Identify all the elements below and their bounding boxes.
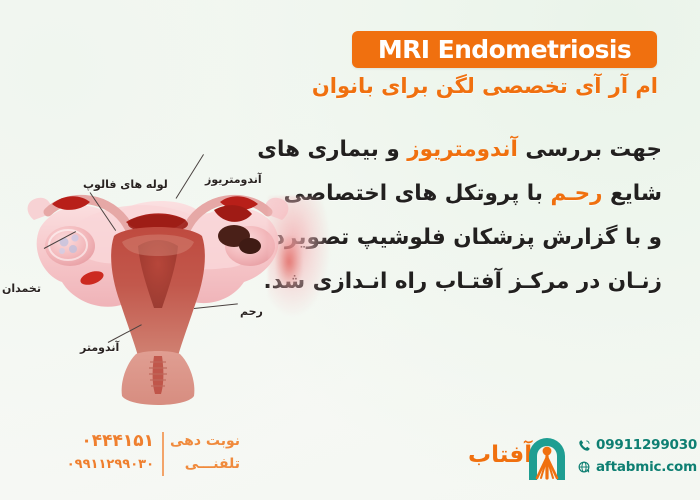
- anatomy-label-uterus: رحم: [240, 305, 263, 318]
- globe-icon: [578, 461, 591, 474]
- booking-block: نوبت دهی تلفنـــی ۰۴۴۴۱۵۱ ۰۹۹۱۱۲۹۹۰۳۰: [34, 430, 240, 482]
- booking-label-line1: نوبت دهی: [170, 430, 240, 453]
- anatomy-label-endometrium: آندومتر: [80, 341, 119, 354]
- anatomy-label-fallopian-tubes: لوله های فالوپ: [83, 178, 168, 191]
- booking-number-primary[interactable]: ۰۴۴۴۱۵۱: [67, 430, 154, 453]
- body-seg: جهت بررسی: [518, 137, 662, 162]
- contact-web-row[interactable]: aftabmic.com: [578, 456, 688, 478]
- body-line-2: شایع رحـم با پروتکل های اختصاصی: [310, 172, 662, 216]
- booking-numbers: ۰۴۴۴۱۵۱ ۰۹۹۱۱۲۹۹۰۳۰: [67, 430, 154, 476]
- anatomy-label-endometriosis: آندومتریوز: [205, 173, 262, 186]
- website-url: aftabmic.com: [596, 459, 697, 475]
- body-line-3: و با گزارش پزشکان فلوشیپ تصویرداری: [310, 216, 662, 260]
- page-title: MRI Endometriosis: [378, 35, 631, 64]
- booking-number-secondary[interactable]: ۰۹۹۱۱۲۹۹۰۳۰: [67, 453, 154, 476]
- body-seg: شایع: [603, 181, 662, 206]
- subtitle: ام آر آی تخصصی لگن برای بانوان: [328, 74, 658, 98]
- brand-block: آفتاب 09911299030: [468, 428, 686, 484]
- body-line-4: زنـان در مرکـز آفتـاب راه انـدازی شد.: [310, 260, 662, 304]
- title-badge: MRI Endometriosis: [352, 31, 657, 68]
- body-seg: با پروتکل های اختصاصی: [284, 181, 551, 206]
- body-line-1: جهت بررسی آندومتریوز و بیماری های: [310, 128, 662, 172]
- anatomy-label-ovary: تخمدان: [2, 282, 41, 295]
- booking-label-line2: تلفنـــی: [170, 453, 240, 476]
- contact-info: 09911299030 aftabmic.com: [578, 434, 688, 478]
- body-seg-highlight: رحـم: [550, 181, 602, 206]
- body-copy: جهت بررسی آندومتریوز و بیماری های شایع ر…: [310, 128, 662, 304]
- mri-gantry-icon: [524, 432, 570, 482]
- contact-phone-row[interactable]: 09911299030: [578, 434, 688, 456]
- body-seg-highlight: آندومتریوز: [407, 137, 518, 162]
- booking-labels: نوبت دهی تلفنـــی: [170, 430, 240, 476]
- poster-canvas: MRI Endometriosis ام آر آی تخصصی لگن برا…: [0, 0, 700, 500]
- brand-name: آفتاب: [468, 442, 532, 468]
- phone-icon: [578, 439, 591, 452]
- booking-divider: [162, 432, 164, 476]
- phone-number: 09911299030: [596, 437, 697, 453]
